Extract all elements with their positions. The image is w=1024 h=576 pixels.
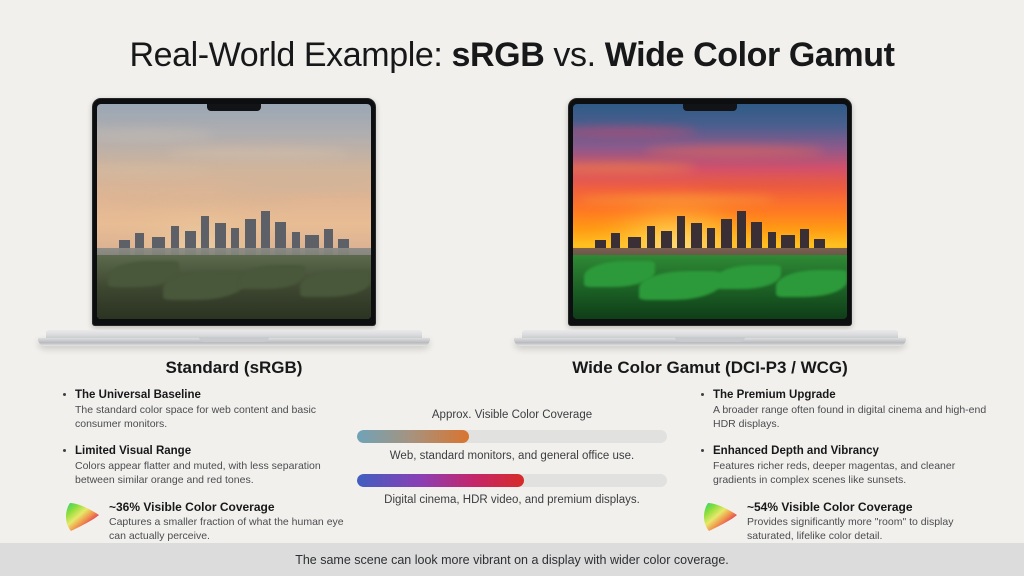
slide-canvas: Real-World Example: sRGB vs. Wide Color … [0,0,1024,576]
gamut-callout-srgb: ~36% Visible Color Coverage Captures a s… [62,500,357,543]
gamut-coverage-title: ~54% Visible Color Coverage [747,500,995,515]
srgb-coverage-bar-track [357,430,667,443]
foliage-layer [573,255,847,320]
bullet-dot-icon [63,393,66,396]
gamut-callout-wcg: ~54% Visible Color Coverage Provides sig… [700,500,995,543]
footer-bar: The same scene can look more vibrant on … [0,543,1024,576]
bullet-desc: Features richer reds, deeper magentas, a… [713,460,995,487]
foliage-layer [97,255,371,320]
base-thumb-notch [675,337,745,342]
wcg-coverage-caption: Digital cinema, HDR video, and premium d… [352,493,672,508]
bullet-title: Enhanced Depth and Vibrancy [713,444,995,459]
laptop-base-wcg [514,330,906,346]
column-heading-srgb: Standard (sRGB) [38,358,430,378]
bullet-desc: The standard color space for web content… [75,404,357,431]
camera-notch-icon [207,104,261,111]
wcg-coverage-bar-fill [357,474,524,487]
page-title: Real-World Example: sRGB vs. Wide Color … [0,34,1024,76]
gamut-coverage-title: ~36% Visible Color Coverage [109,500,357,515]
laptop-mockup-wcg [514,98,906,346]
screen-wcg [573,104,847,319]
bullet-list-wcg: The Premium Upgrade A broader range ofte… [700,388,995,543]
screen-srgb [97,104,371,319]
bullet-dot-icon [701,449,704,452]
column-heading-wcg: Wide Color Gamut (DCI-P3 / WCG) [514,358,906,378]
list-item: The Universal Baseline The standard colo… [62,388,357,431]
color-gamut-horseshoe-icon [700,501,740,533]
bullet-dot-icon [63,449,66,452]
coverage-chart-title: Approx. Visible Color Coverage [352,408,672,423]
title-bold-wcg: Wide Color Gamut [605,36,895,74]
coverage-bar-group-srgb: Web, standard monitors, and general offi… [352,430,672,464]
laptop-base-srgb [38,330,430,346]
footer-text: The same scene can look more vibrant on … [295,553,729,567]
laptop-mockup-srgb [38,98,430,346]
title-bold-srgb: sRGB [451,36,544,74]
coverage-bar-group-wcg: Digital cinema, HDR video, and premium d… [352,474,672,508]
title-prefix: Real-World Example: [129,36,451,74]
bullet-title: The Premium Upgrade [713,388,995,403]
base-thumb-notch [199,337,269,342]
title-mid: vs. [544,36,604,74]
coverage-chart: Approx. Visible Color Coverage Web, stan… [352,408,672,508]
list-item: Limited Visual Range Colors appear flatt… [62,444,357,487]
laptop-lid-wcg [568,98,852,326]
srgb-coverage-caption: Web, standard monitors, and general offi… [352,449,672,464]
wcg-coverage-bar-track [357,474,667,487]
bullet-desc: A broader range often found in digital c… [713,404,995,431]
gamut-coverage-desc: Captures a smaller fraction of what the … [109,516,357,543]
bullet-dot-icon [701,393,704,396]
bullet-title: The Universal Baseline [75,388,357,403]
list-item: The Premium Upgrade A broader range ofte… [700,388,995,431]
gamut-coverage-desc: Provides significantly more "room" to di… [747,516,995,543]
bullet-list-srgb: The Universal Baseline The standard colo… [62,388,357,543]
list-item: Enhanced Depth and Vibrancy Features ric… [700,444,995,487]
bullet-desc: Colors appear flatter and muted, with le… [75,460,357,487]
bullet-title: Limited Visual Range [75,444,357,459]
color-gamut-horseshoe-icon [62,501,102,533]
srgb-coverage-bar-fill [357,430,469,443]
camera-notch-icon [683,104,737,111]
laptop-lid-srgb [92,98,376,326]
